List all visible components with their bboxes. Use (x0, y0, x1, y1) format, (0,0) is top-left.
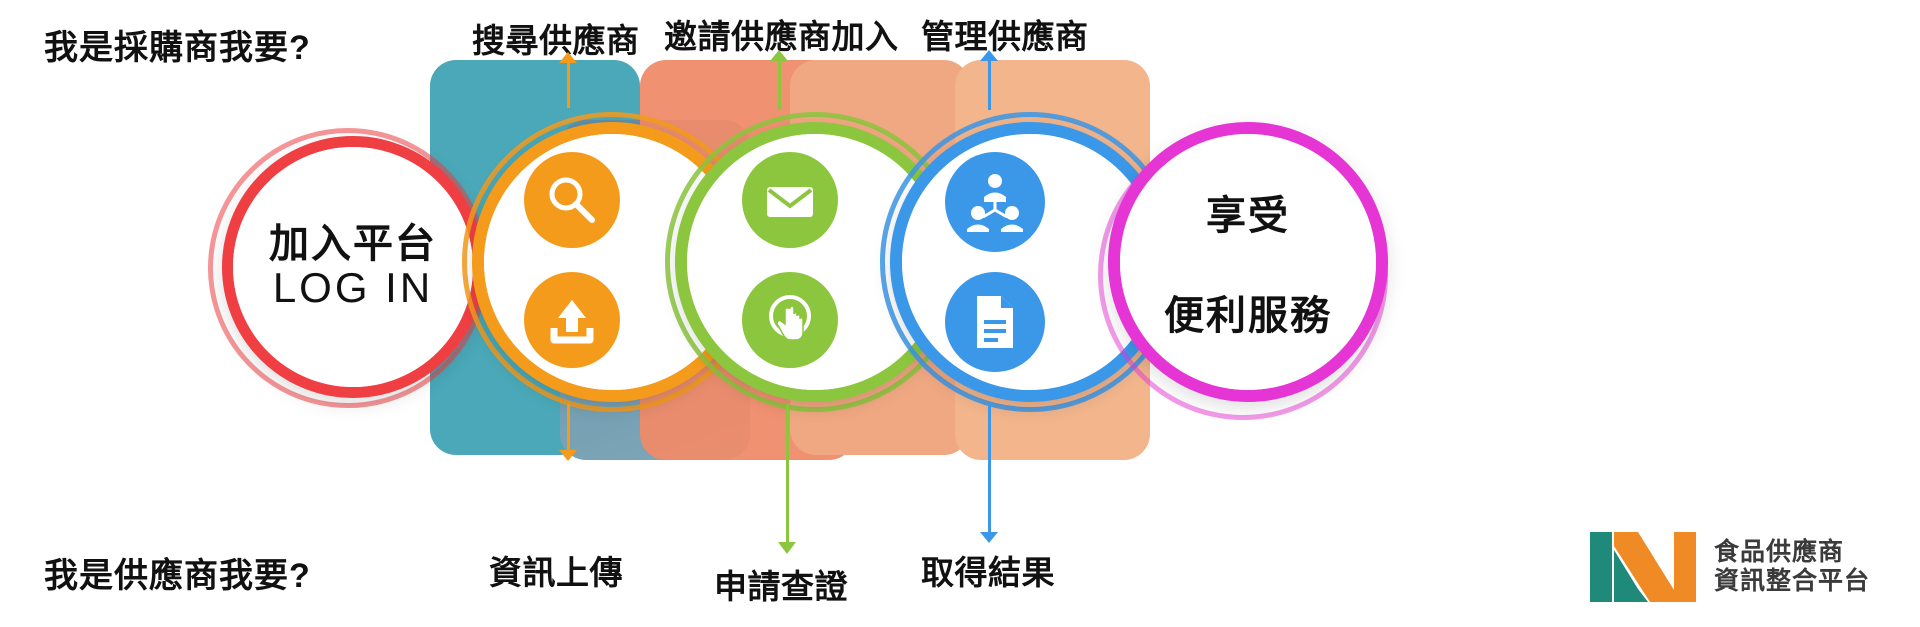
top-label-search: 搜尋供應商 (472, 14, 640, 62)
top-arrow-head-manage (980, 50, 998, 61)
node-login-body: 加入平台 LOG IN (233, 147, 473, 387)
bottom-label-result: 取得結果 (921, 546, 1055, 594)
bottom-label-upload: 資訊上傳 (489, 546, 623, 594)
bottom-arrow-head-verify (778, 542, 796, 554)
logo-line-1: 食品供應商 (1714, 538, 1870, 568)
magnifier-icon (544, 172, 600, 228)
document-icon-disc[interactable] (945, 272, 1045, 372)
top-arrow-head-invite (770, 50, 788, 61)
top-label-manage: 管理供應商 (921, 10, 1089, 58)
infographic-canvas: 加入平台 LOG IN (0, 0, 1920, 627)
bottom-arrow-head-result (980, 532, 998, 543)
top-arrow-head-search (559, 52, 577, 63)
upload-icon (544, 292, 600, 348)
logo-line-2: 資訊整合平台 (1714, 567, 1870, 597)
hand-click-icon-disc[interactable] (742, 272, 838, 368)
node-login-title-cn: 加入平台 (269, 223, 437, 265)
node-enjoy-title-bottom: 便利服務 (1164, 283, 1332, 341)
node-enjoy-body: 享受 便利服務 (1120, 134, 1376, 390)
logo-text: 食品供應商 資訊整合平台 (1714, 538, 1870, 597)
upload-icon-disc[interactable] (524, 272, 620, 368)
hand-click-icon (762, 292, 818, 348)
document-icon (967, 292, 1023, 352)
logo[interactable]: 食品供應商 資訊整合平台 (1588, 528, 1870, 606)
top-arrow-line-invite (778, 58, 781, 110)
bottom-arrow-line-result (988, 404, 991, 532)
bottom-arrow-line-verify (786, 404, 789, 542)
bottom-arrow-line-upload (567, 404, 570, 450)
node-login-title-en: LOG IN (273, 265, 433, 311)
platform-logo-mark (1588, 528, 1700, 606)
bottom-arrow-head-upload (559, 450, 577, 461)
people-network-icon-disc[interactable] (945, 152, 1045, 252)
supplier-question-label: 我是供應商我要? (44, 548, 311, 597)
envelope-icon-disc[interactable] (742, 152, 838, 248)
people-network-icon (964, 171, 1026, 233)
node-enjoy-title-top: 享受 (1206, 183, 1290, 241)
bottom-label-verify: 申請查證 (714, 560, 848, 608)
top-arrow-line-search (567, 60, 570, 108)
buyer-question-label: 我是採購商我要? (44, 20, 311, 69)
magnifier-icon-disc[interactable] (524, 152, 620, 248)
top-arrow-line-manage (988, 58, 991, 110)
envelope-icon (761, 171, 819, 229)
